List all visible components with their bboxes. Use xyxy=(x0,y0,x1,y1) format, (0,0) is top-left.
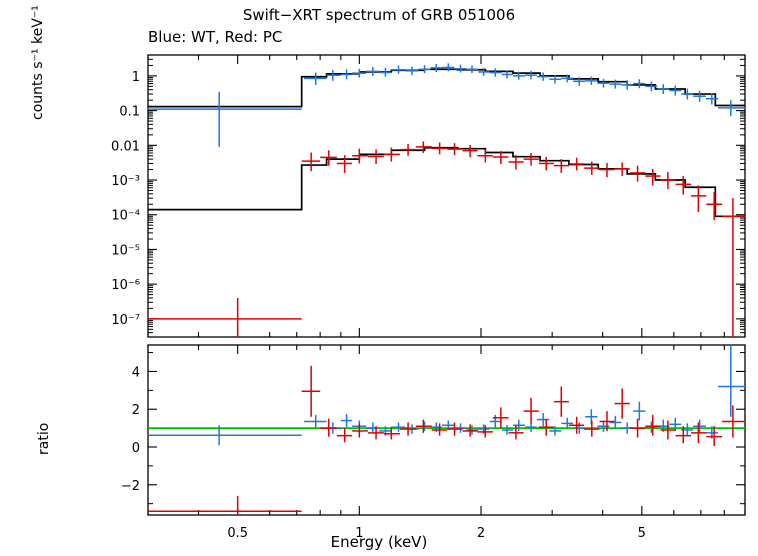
y-tick-label-main: 10⁻⁵ xyxy=(111,243,140,258)
y-tick-label-ratio: 4 xyxy=(132,365,140,380)
y-tick-label-main: 0.01 xyxy=(111,139,140,154)
wt-model-curve xyxy=(148,69,745,106)
y-tick-label-ratio: 0 xyxy=(132,441,140,456)
main-panel-frame xyxy=(148,55,745,337)
pc-model-curve xyxy=(148,148,745,217)
y-tick-label-main: 10⁻⁷ xyxy=(111,313,140,328)
x-tick-label: 5 xyxy=(638,526,646,541)
pc-data-points xyxy=(148,141,745,337)
y-tick-label-ratio: −2 xyxy=(121,479,140,494)
y-tick-label-main: 10⁻³ xyxy=(111,174,140,189)
wt-data-points xyxy=(148,63,745,147)
x-tick-label: 2 xyxy=(477,526,485,541)
y-tick-label-main: 1 xyxy=(132,70,140,85)
pc-ratio-points xyxy=(148,366,745,515)
x-tick-label: 0.5 xyxy=(227,526,248,541)
x-tick-label: 1 xyxy=(355,526,363,541)
y-tick-label-main: 10⁻⁶ xyxy=(111,278,140,293)
chart-figure: Swift−XRT spectrum of GRB 051006 Blue: W… xyxy=(0,0,758,556)
y-tick-label-main: 10⁻⁴ xyxy=(111,209,140,224)
plot-canvas: 0.512510.10.0110⁻³10⁻⁴10⁻⁵10⁻⁶10⁻⁷−2024 xyxy=(0,0,758,556)
y-tick-label-main: 0.1 xyxy=(119,105,140,120)
y-tick-label-ratio: 2 xyxy=(132,403,140,418)
